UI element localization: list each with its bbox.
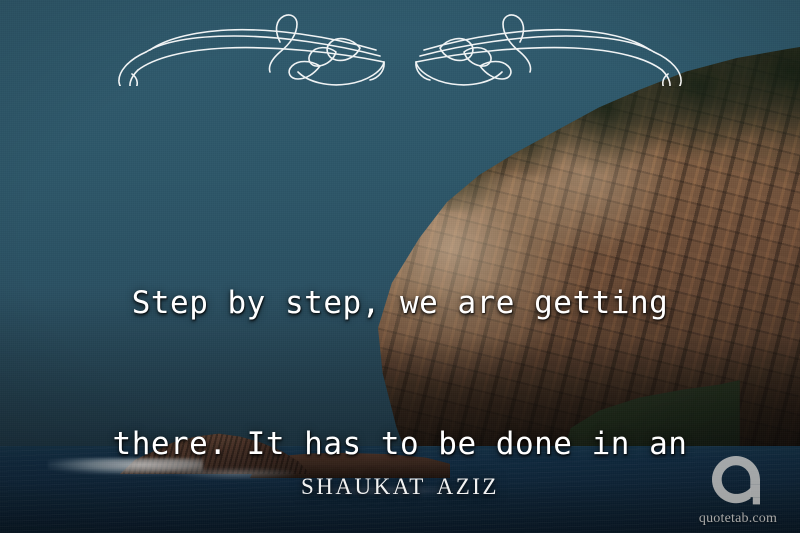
watermark[interactable]: quotetab.com: [686, 454, 790, 527]
author-name: Shaukat Aziz: [0, 466, 800, 503]
quote-line-2: there. It has to be done in an: [38, 421, 762, 468]
quote-image-canvas: Step by step, we are getting there. It h…: [0, 0, 800, 533]
watermark-site-label: quotetab.com: [686, 511, 790, 527]
quote-line-1: Step by step, we are getting: [38, 280, 762, 327]
quotetab-q-logo-icon: [709, 454, 767, 510]
